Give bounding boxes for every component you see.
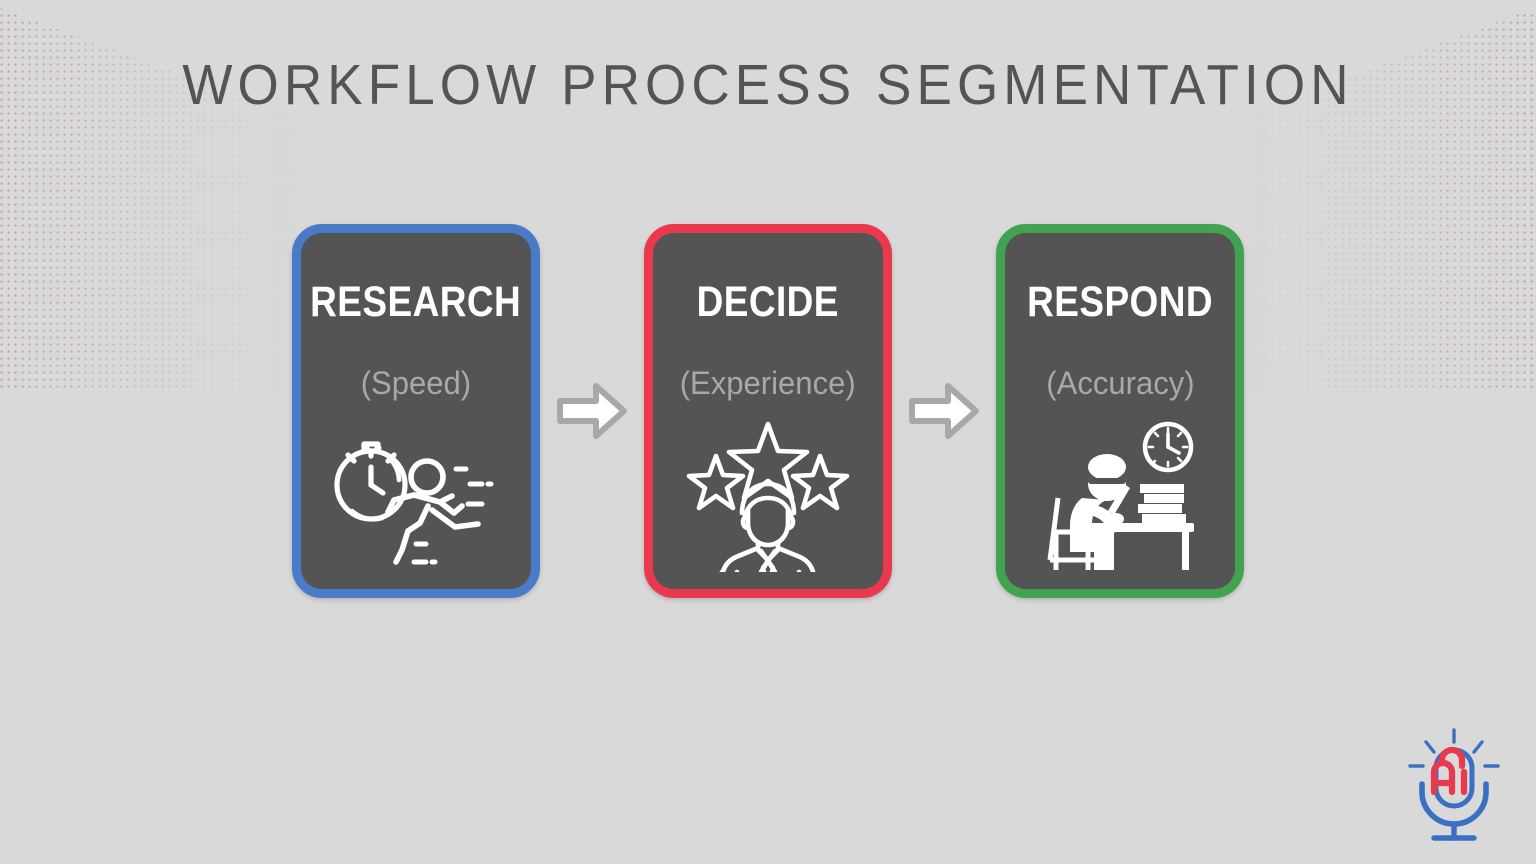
workflow-flow-row: RESEARCH (Speed): [292, 224, 1244, 598]
step-title: DECIDE: [697, 281, 839, 324]
right-arrow-icon-2: [892, 381, 996, 441]
businessman-three-stars-icon: [679, 421, 857, 571]
step-card-research[interactable]: RESEARCH (Speed): [292, 224, 540, 598]
right-arrow-icon-1: [540, 381, 644, 441]
step-card-decide[interactable]: DECIDE (Experience): [644, 224, 892, 598]
running-person-stopwatch-icon: [327, 421, 505, 571]
person-studying-desk-clock-books-icon: [1031, 421, 1209, 571]
step-title: RESEARCH: [311, 281, 522, 324]
step-subtitle: (Accuracy): [1046, 367, 1194, 399]
step-card-respond[interactable]: RESPOND (Accuracy): [996, 224, 1244, 598]
ai-microphone-logo: [1400, 726, 1508, 842]
step-subtitle: (Experience): [680, 367, 856, 399]
step-subtitle: (Speed): [361, 367, 471, 399]
page-title: WORKFLOW PROCESS SEGMENTATION: [54, 52, 1482, 118]
step-title: RESPOND: [1027, 281, 1213, 324]
